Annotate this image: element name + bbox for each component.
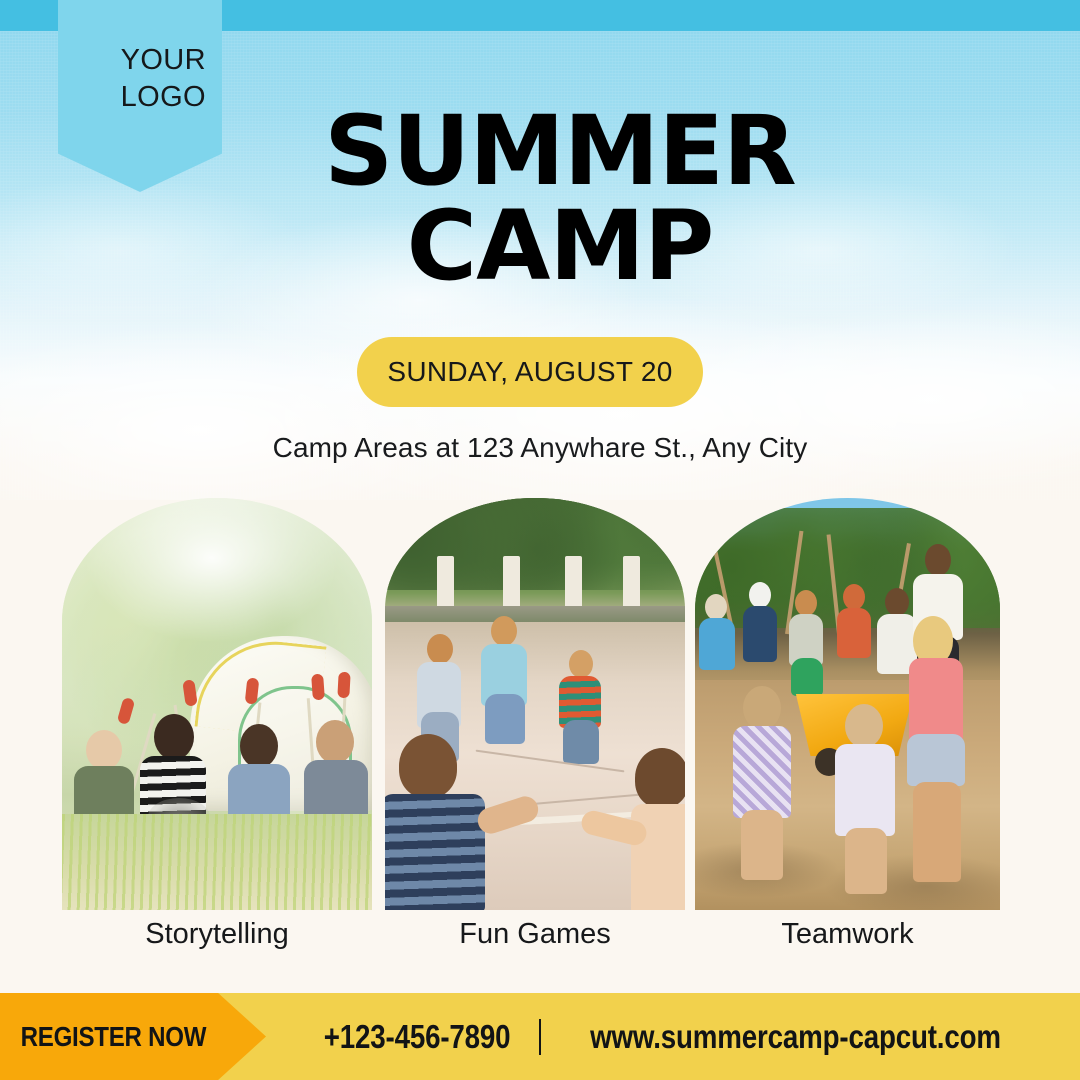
concrete-crack (476, 750, 625, 773)
adult-head (925, 544, 951, 576)
grass-foreground (62, 814, 372, 910)
caption-teamwork: Teamwork (695, 918, 1000, 951)
footer-bar: REGISTER NOW +123-456-7890 www.summercam… (0, 993, 1080, 1080)
website-url[interactable]: www.summercamp-capcut.com (590, 1018, 1001, 1056)
photo-gallery (0, 498, 1080, 910)
contact-separator (539, 1019, 541, 1055)
child-head (885, 588, 909, 616)
child-head (705, 594, 727, 620)
child-head (86, 730, 122, 770)
jump-rope-scene (385, 498, 685, 910)
date-badge: SUNDAY, AUGUST 20 (357, 337, 703, 407)
register-now-button[interactable]: REGISTER NOW (0, 993, 266, 1080)
teen-shorts (907, 734, 965, 786)
child-head (240, 724, 278, 768)
child-head (845, 704, 883, 748)
caption-fun-games: Fun Games (385, 918, 685, 951)
child-body (835, 744, 895, 836)
roasting-sausage (117, 697, 136, 725)
tree-line (385, 498, 685, 590)
low-wall (385, 606, 685, 622)
summer-camp-poster: YOUR LOGO SUMMER CAMP SUNDAY, AUGUST 20 … (0, 0, 1080, 1080)
foreground-child-body (631, 804, 685, 910)
title-line-camp: CAMP (210, 199, 910, 294)
child-head (427, 634, 453, 664)
child-head (795, 590, 817, 616)
teen-body (909, 658, 963, 742)
foreground-child-arm (475, 793, 542, 837)
caption-storytelling: Storytelling (62, 918, 372, 951)
child-legs (845, 828, 887, 894)
roasting-sausage (311, 674, 325, 701)
child-head (743, 686, 781, 730)
roasting-sausage (182, 679, 198, 706)
gallery-photo-storytelling (62, 498, 372, 910)
address-line: Camp Areas at 123 Anywhare St., Any City (0, 432, 1080, 464)
child-legs (741, 810, 783, 880)
foreground-child-head (399, 734, 457, 798)
date-badge-label: SUNDAY, AUGUST 20 (387, 356, 672, 388)
child-legs (563, 720, 599, 764)
logo-line-2: LOGO (58, 79, 206, 116)
fence-post (565, 556, 582, 612)
foreground-child-head (635, 748, 685, 808)
child-body (743, 606, 777, 662)
campfire-scene (62, 498, 372, 910)
logo-banner[interactable]: YOUR LOGO (58, 0, 222, 192)
child-legs (485, 694, 525, 744)
logo-line-1: YOUR (58, 42, 206, 79)
fence-post (503, 556, 520, 612)
footer-contact: +123-456-7890 www.summercamp-capcut.com (266, 993, 1080, 1080)
page-title: SUMMER CAMP (210, 104, 910, 294)
child-head (316, 720, 354, 764)
roasting-sausage (337, 672, 350, 699)
teen-legs (913, 782, 961, 882)
child-body (733, 726, 791, 818)
gallery-photo-fun-games (385, 498, 685, 910)
gallery-photo-teamwork (695, 498, 1000, 910)
phone-number[interactable]: +123-456-7890 (324, 1018, 511, 1056)
child-head (569, 650, 593, 678)
child-body (699, 618, 735, 670)
teamwork-scene (695, 498, 1000, 910)
fence-post (623, 556, 640, 612)
child-head (491, 616, 517, 646)
child-legs (791, 658, 823, 696)
register-now-label: REGISTER NOW (0, 1021, 206, 1053)
title-line-summer: SUMMER (210, 104, 910, 199)
foreground-child-body (385, 794, 485, 910)
child-head (749, 582, 771, 608)
child-head (843, 584, 865, 610)
child-head (154, 714, 194, 760)
fence-post (437, 556, 454, 612)
child-body (837, 608, 871, 658)
